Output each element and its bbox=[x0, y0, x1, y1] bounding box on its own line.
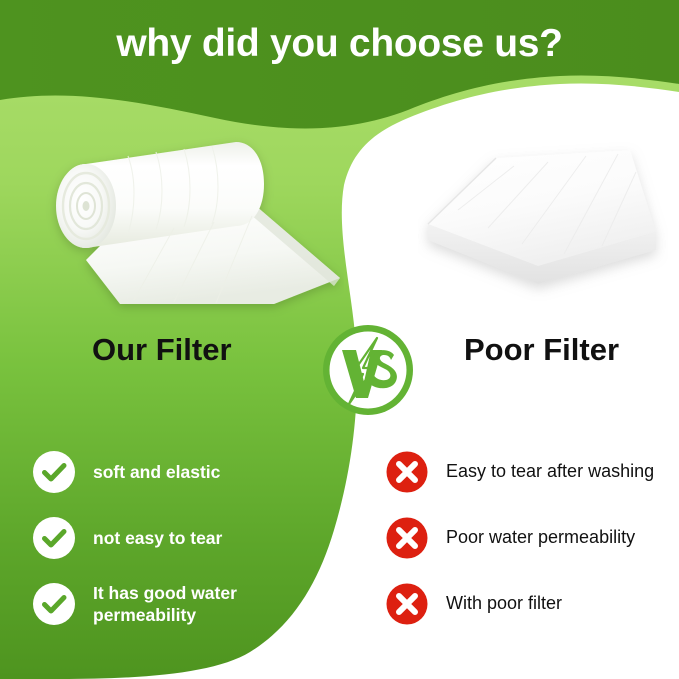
vs-badge: VS bbox=[322, 324, 414, 416]
list-item: It has good water permeability bbox=[32, 572, 322, 636]
our-filter-product-image bbox=[24, 128, 344, 318]
list-item: soft and elastic bbox=[32, 440, 322, 504]
list-item: Easy to tear after washing bbox=[385, 440, 675, 504]
list-item-label: With poor filter bbox=[446, 592, 562, 615]
list-item: not easy to tear bbox=[32, 506, 322, 570]
comparison-infographic: why did you choose us? bbox=[0, 0, 679, 679]
list-item-label: soft and elastic bbox=[93, 461, 220, 483]
list-item: With poor filter bbox=[385, 572, 675, 636]
list-item-label: not easy to tear bbox=[93, 527, 222, 549]
our-filter-feature-list: soft and elastic not easy to tear It has… bbox=[32, 440, 322, 638]
list-item-label: It has good water bbox=[93, 583, 237, 603]
poor-filter-product-image bbox=[418, 132, 668, 307]
check-icon bbox=[32, 450, 76, 494]
right-panel-title: Poor Filter bbox=[464, 332, 619, 368]
list-item-label-multiline: It has good water permeability bbox=[93, 582, 237, 627]
cross-icon bbox=[385, 450, 429, 494]
left-panel-title: Our Filter bbox=[92, 332, 232, 368]
list-item-label-line2: permeability bbox=[93, 604, 237, 626]
check-icon bbox=[32, 516, 76, 560]
list-item: Poor water permeability bbox=[385, 506, 675, 570]
cross-icon bbox=[385, 582, 429, 626]
check-icon bbox=[32, 582, 76, 626]
poor-filter-feature-list: Easy to tear after washing Poor water pe… bbox=[385, 440, 675, 638]
list-item-label: Easy to tear after washing bbox=[446, 460, 654, 483]
list-item-label: Poor water permeability bbox=[446, 526, 635, 549]
cross-icon bbox=[385, 516, 429, 560]
page-title: why did you choose us? bbox=[0, 22, 679, 66]
